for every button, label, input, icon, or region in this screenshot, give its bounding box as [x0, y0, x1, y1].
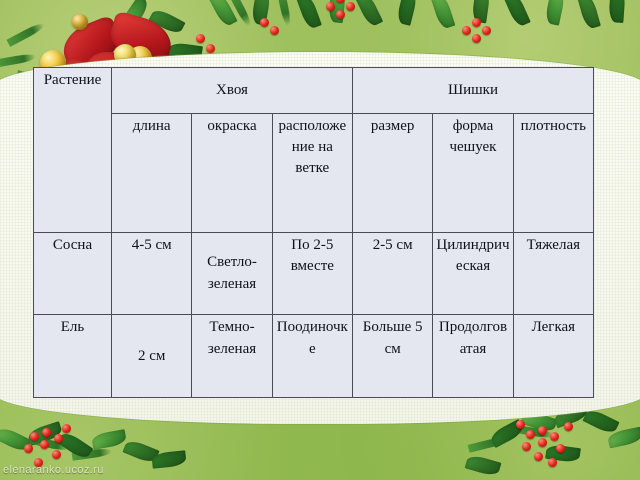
cell-length-pine: 4-5 см — [112, 232, 192, 315]
header-cell-density: плотность — [513, 113, 593, 232]
cell-length-spruce: 2 см — [112, 315, 192, 398]
header-cell-plant: Растение — [34, 68, 112, 233]
cell-placement-spruce: Поодиночке — [272, 315, 352, 398]
cell-density-spruce: Легкая — [513, 315, 593, 398]
header-cell-color: окраска — [192, 113, 272, 232]
cell-density-pine: Тяжелая — [513, 232, 593, 315]
site-watermark: elenaranko.ucoz.ru — [3, 464, 104, 476]
header-cell-cones-group: Шишки — [352, 68, 593, 114]
table-row: Сосна 4-5 см Светло-зеленая По 2-5 вмест… — [34, 232, 594, 315]
cell-scale-form-pine: Цилиндрическая — [433, 232, 513, 315]
header-cell-placement: расположение на ветке — [272, 113, 352, 232]
cell-scale-form-spruce: Продолговатая — [433, 315, 513, 398]
header-cell-size: размер — [352, 113, 432, 232]
header-cell-scale-form: форма чешуек — [433, 113, 513, 232]
comparison-table-container: Растение Хвоя Шишки длина окраска распол… — [33, 67, 594, 398]
cell-size-pine: 2-5 см — [352, 232, 432, 315]
cell-placement-pine: По 2-5 вместе — [272, 232, 352, 315]
needles-cones-comparison-table: Растение Хвоя Шишки длина окраска распол… — [33, 67, 594, 398]
cell-size-spruce: Больше 5 см — [352, 315, 432, 398]
slide-canvas: Растение Хвоя Шишки длина окраска распол… — [0, 0, 640, 480]
cell-plant-spruce: Ель — [34, 315, 112, 398]
cell-plant-pine: Сосна — [34, 232, 112, 315]
table-header-row-groups: Растение Хвоя Шишки — [34, 68, 594, 114]
header-cell-length: длина — [112, 113, 192, 232]
cell-color-spruce: Темно-зеленая — [192, 315, 272, 398]
cell-color-pine: Светло-зеленая — [192, 232, 272, 315]
table-header-row-subcolumns: длина окраска расположение на ветке разм… — [34, 113, 594, 232]
table-row: Ель 2 см Темно-зеленая Поодиночке Больше… — [34, 315, 594, 398]
header-cell-needles-group: Хвоя — [112, 68, 353, 114]
